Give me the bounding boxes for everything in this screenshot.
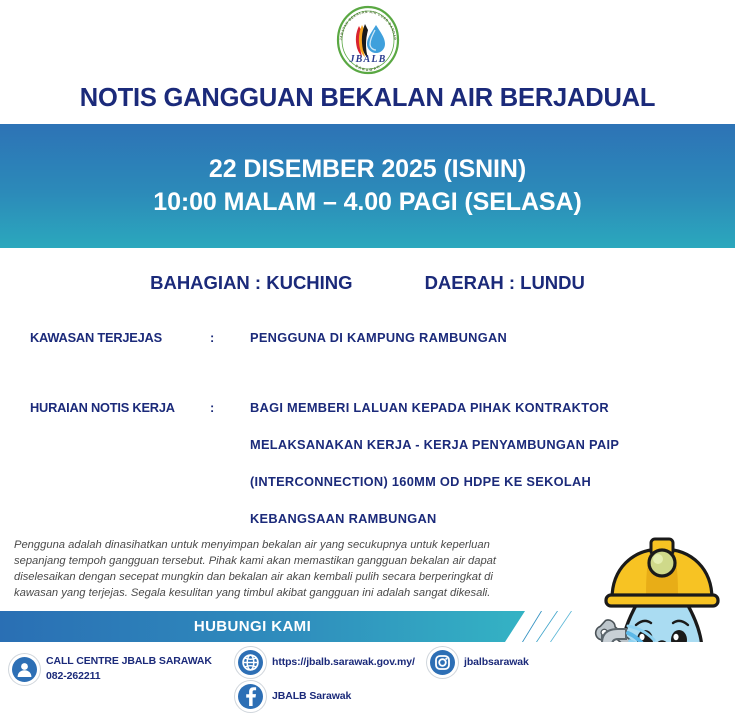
field-huraian-notis-kerja: HURAIAN NOTIS KERJA : BAGI MEMBERI LALUA…	[30, 400, 720, 526]
field-value-line: (INTERCONNECTION) 160MM OD HDPE KE SEKOL…	[250, 474, 720, 489]
field-kawasan-terjejas: KAWASAN TERJEJAS : PENGGUNA DI KAMPUNG R…	[30, 330, 720, 345]
facebook-text: JBALB Sarawak	[272, 689, 351, 704]
field-value-line: BAGI MEMBERI LALUAN KEPADA PIHAK KONTRAK…	[250, 400, 720, 415]
decorative-stripe-2	[536, 611, 558, 642]
call-centre-text: CALL CENTRE JBALB SARAWAK 082-262211	[46, 654, 212, 684]
region-row: BAHAGIAN : KUCHING DAERAH : LUNDU	[0, 272, 735, 294]
date-banner: 22 DISEMBER 2025 (ISNIN) 10:00 MALAM – 4…	[0, 124, 735, 248]
field-colon: :	[210, 330, 250, 345]
contact-facebook[interactable]: JBALB Sarawak	[238, 684, 351, 709]
field-value-line: MELAKSANAKAN KERJA - KERJA PENYAMBUNGAN …	[250, 437, 720, 452]
decorative-stripe-3	[550, 611, 572, 642]
contact-instagram[interactable]: jbalbsarawak	[430, 650, 529, 675]
contact-bar: HUBUNGI KAMI	[0, 611, 735, 642]
field-label: KAWASAN TERJEJAS	[30, 330, 210, 345]
instagram-text: jbalbsarawak	[464, 655, 529, 670]
field-value: PENGGUNA DI KAMPUNG RAMBUNGAN	[250, 330, 720, 345]
contact-bar-label: HUBUNGI KAMI	[0, 611, 505, 642]
person-icon	[12, 657, 37, 682]
field-colon: :	[210, 400, 250, 526]
field-value: BAGI MEMBERI LALUAN KEPADA PIHAK KONTRAK…	[250, 400, 720, 526]
date-line-1: 22 DISEMBER 2025 (ISNIN)	[209, 154, 526, 185]
globe-icon	[238, 650, 263, 675]
decorative-stripe-1	[522, 611, 542, 642]
instagram-icon	[430, 650, 455, 675]
svg-text:JBALB: JBALB	[348, 54, 386, 65]
website-text: https://jbalb.sarawak.gov.my/	[272, 655, 415, 670]
contact-website[interactable]: https://jbalb.sarawak.gov.my/	[238, 650, 415, 675]
field-value-line: KEBANGSAAN RAMBUNGAN	[250, 511, 720, 526]
district-label: DAERAH : LUNDU	[425, 272, 585, 294]
contact-call-centre[interactable]: CALL CENTRE JBALB SARAWAK 082-262211	[12, 654, 212, 684]
jbalb-logo: JBALB JABATAN BEKALAN AIR LUAR BANDAR SA…	[332, 6, 404, 76]
call-centre-line2: 082-262211	[46, 669, 212, 684]
division-label: BAHAGIAN : KUCHING	[150, 272, 352, 294]
facebook-icon	[238, 684, 263, 709]
call-centre-line1: CALL CENTRE JBALB SARAWAK	[46, 654, 212, 669]
disclaimer-text: Pengguna adalah dinasihatkan untuk menyi…	[14, 538, 534, 602]
footer: CALL CENTRE JBALB SARAWAK 082-262211 htt…	[0, 642, 735, 719]
field-label: HURAIAN NOTIS KERJA	[30, 400, 210, 526]
page-title: NOTIS GANGGUAN BEKALAN AIR BERJADUAL	[0, 84, 735, 113]
field-value-line: PENGGUNA DI KAMPUNG RAMBUNGAN	[250, 330, 720, 345]
date-line-2: 10:00 MALAM – 4.00 PAGI (SELASA)	[153, 187, 581, 218]
header: JBALB JABATAN BEKALAN AIR LUAR BANDAR SA…	[0, 0, 735, 124]
